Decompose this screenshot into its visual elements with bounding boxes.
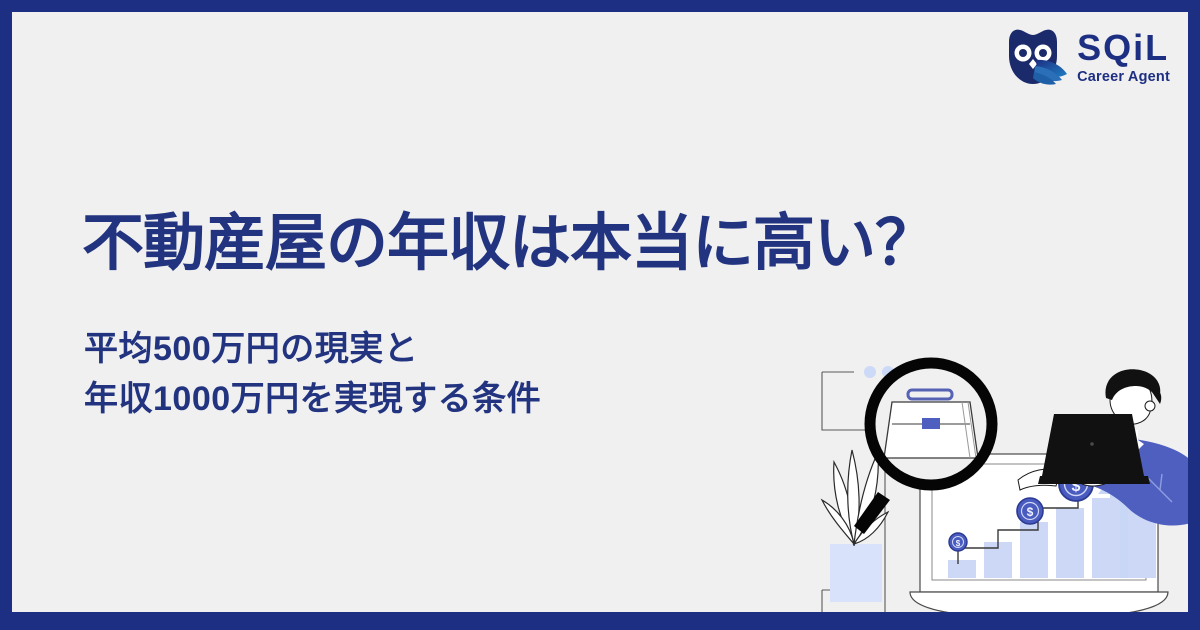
poster-canvas: SQiL Career Agent 不動産屋の年収は本当に高い？ 平均500万円… [0,0,1200,630]
svg-text:$: $ [1027,505,1034,519]
brand-name: SQiL [1077,30,1169,66]
page-subtitle: 平均500万円の現実と 年収1000万円を実現する条件 [84,324,541,425]
page-title: 不動産屋の年収は本当に高い？ [82,208,936,279]
poster-panel: SQiL Career Agent 不動産屋の年収は本当に高い？ 平均500万円… [12,12,1188,612]
salary-analysis-illustration: $ $ $ [792,352,1188,612]
owl-logo-icon [1002,26,1068,88]
brand-tagline: Career Agent [1077,70,1170,85]
brand-logo[interactable]: SQiL Career Agent [1002,26,1170,88]
svg-text:$: $ [956,539,961,548]
subtitle-line-1: 平均500万円の現実と [84,324,541,374]
subtitle-line-2: 年収1000万円を実現する条件 [84,374,541,424]
